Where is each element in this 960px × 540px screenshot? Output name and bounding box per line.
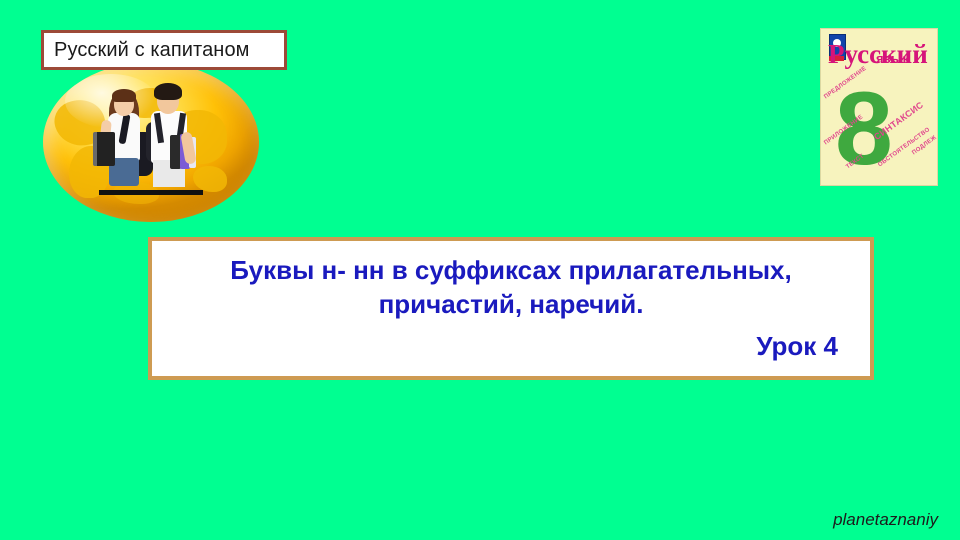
slide-canvas: Русский с капитаном — [0, 0, 960, 540]
lesson-title-box: Буквы н- нн в суффиксах прилагательных, … — [148, 237, 874, 380]
footer-watermark-text: planetaznaniy — [833, 510, 938, 530]
lesson-heading-text: Буквы н- нн в суффиксах прилагательных, … — [174, 253, 848, 321]
textbook-cover-image: 8 Русский язык ПРЕДЛОЖЕНИЕ ПРИЛОЖЕНИЕ ТЕ… — [820, 28, 938, 186]
series-title-box: Русский с капитаном — [41, 30, 287, 70]
textbook-title-sub: язык — [876, 51, 910, 66]
series-title-text: Русский с капитаном — [54, 39, 250, 62]
students-photo-group — [91, 80, 215, 196]
girl-student-books — [93, 132, 115, 166]
boy-student-hair — [154, 83, 182, 100]
students-photo-baseline — [99, 190, 203, 195]
globe-illustration — [43, 62, 259, 222]
lesson-number-text: Урок 4 — [174, 329, 848, 363]
girl-student-hair-front — [112, 89, 136, 102]
